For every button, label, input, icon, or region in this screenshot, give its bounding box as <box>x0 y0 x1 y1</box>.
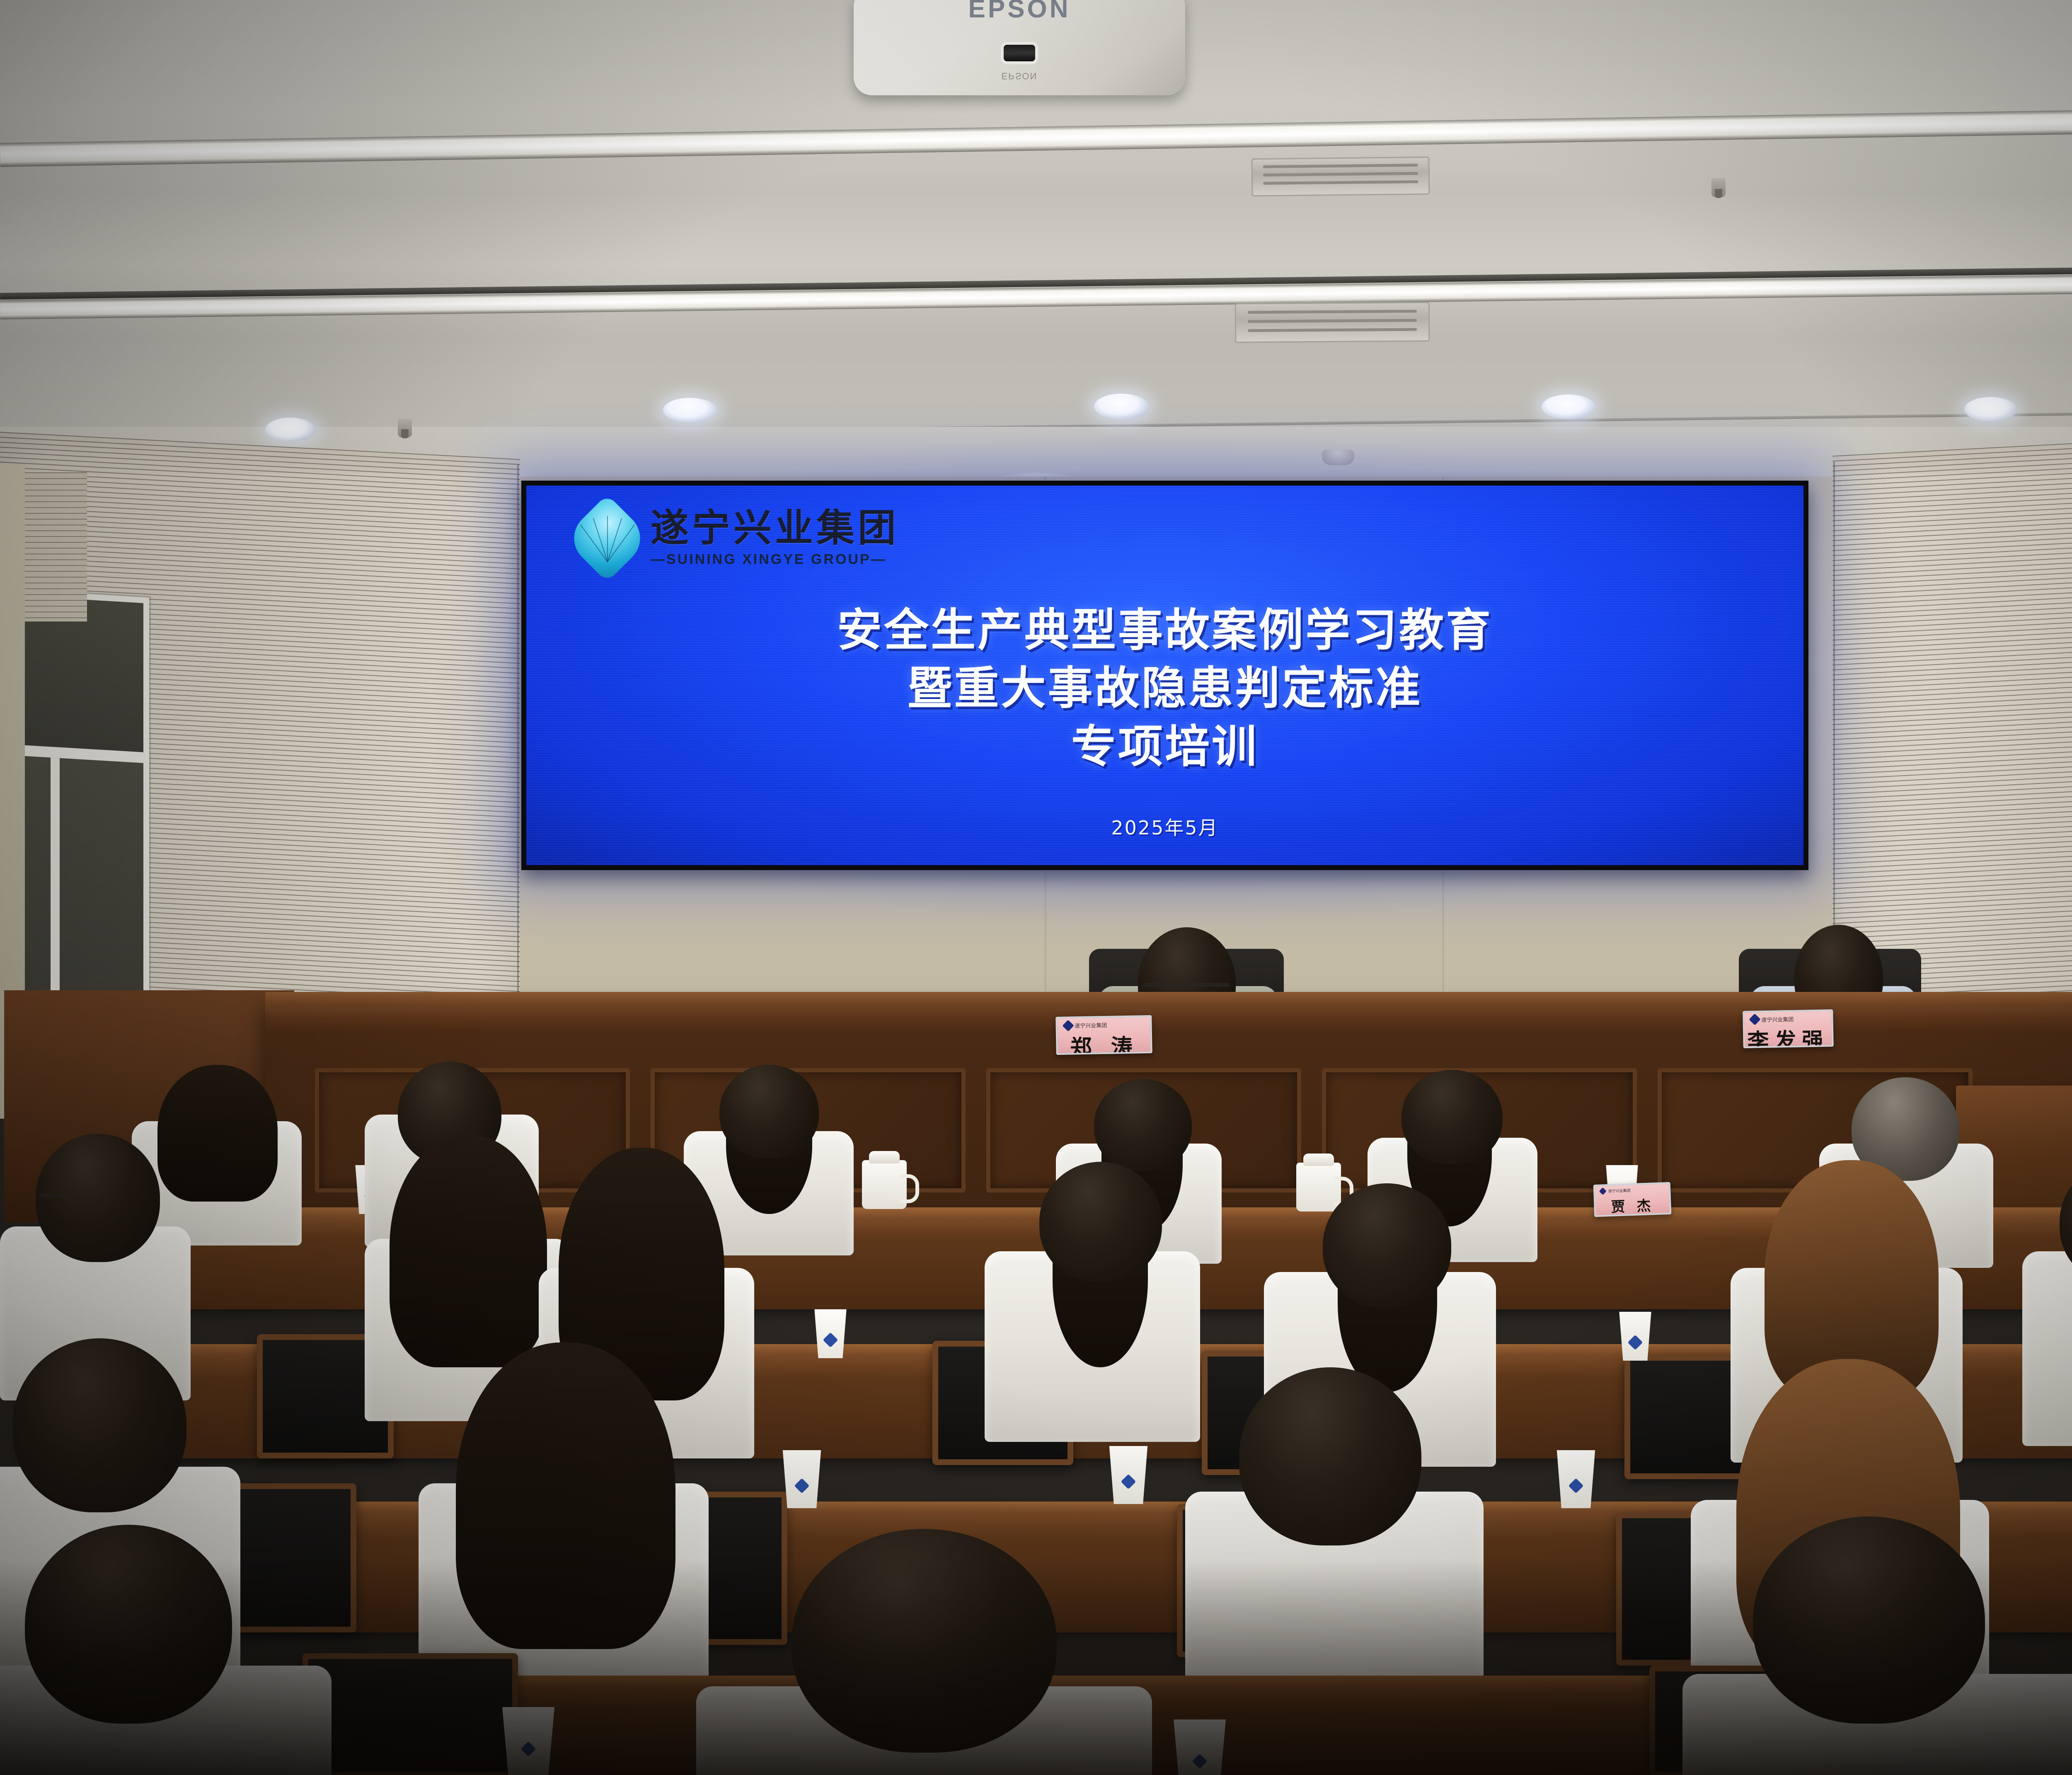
lidded-mug <box>862 1160 907 1209</box>
nameplate-name-1: 郑 涛 <box>1058 1029 1151 1055</box>
slide-title-line-3: 专项培训 <box>526 718 1803 776</box>
downlight-icon <box>1964 397 2017 422</box>
presidium-table-edge <box>265 992 2072 1007</box>
nameplate-org-1: 遂宁兴业集团 <box>1075 1021 1107 1029</box>
slide-canvas: 遂宁兴业集团 —SUINING XINGYE GROUP— 安全生产典型事故案例… <box>526 486 1803 865</box>
downlight-icon <box>1542 394 1595 419</box>
slide-date: 2025年5月 <box>526 813 1803 840</box>
conference-room-photo: EPSON EPSON <box>0 0 2072 1775</box>
air-vent-icon <box>1251 157 1430 196</box>
nameplate-presidium-1: 遂宁兴业集团 郑 涛 <box>1055 1015 1152 1055</box>
nameplate-audience-name-1: 贾 杰 <box>1595 1194 1670 1216</box>
slide-title-line-1: 安全生产典型事故案例学习教育 <box>526 602 1803 660</box>
suining-xingye-logo-icon <box>576 507 638 569</box>
slide-title: 安全生产典型事故案例学习教育 暨重大事故隐患判定标准 专项培训 <box>526 602 1803 776</box>
nameplate-audience-org-1: 遂宁兴业集团 <box>1608 1187 1630 1194</box>
downlight-icon <box>1094 394 1149 419</box>
slide-title-line-2: 暨重大事故隐患判定标准 <box>526 660 1803 718</box>
logo-english-name: —SUINING XINGYE GROUP— <box>651 551 899 568</box>
nameplate-logo-icon <box>1599 1187 1607 1195</box>
projector-lens-icon <box>1004 45 1035 61</box>
led-display-wall: 遂宁兴业集团 —SUINING XINGYE GROUP— 安全生产典型事故案例… <box>521 481 1808 870</box>
projector-brand-label: EPSON <box>854 0 1185 24</box>
ceiling-light-strip-1 <box>0 106 2072 167</box>
epson-projector: EPSON EPSON <box>854 0 1185 95</box>
glasses-icon <box>40 1193 73 1197</box>
sprinkler-icon <box>398 418 412 438</box>
nameplate-name-2: 李发强 <box>1745 1023 1832 1048</box>
foreground-shadow <box>0 1560 2072 1775</box>
projector-sub-brand-label: EPSON <box>996 70 1043 81</box>
downlight-icon <box>265 418 316 442</box>
paper-cup <box>1106 1446 1151 1504</box>
company-logo: 遂宁兴业集团 —SUINING XINGYE GROUP— <box>576 507 899 569</box>
downlight-icon <box>663 398 717 423</box>
nameplate-presidium-2: 遂宁兴业集团 李发强 <box>1743 1009 1834 1048</box>
lidded-mug <box>1296 1163 1341 1212</box>
sprinkler-icon <box>1711 178 1726 197</box>
nameplate-audience-1: 遂宁兴业集团 贾 杰 <box>1593 1182 1672 1217</box>
logo-chinese-name: 遂宁兴业集团 <box>651 509 899 547</box>
nameplate-org-2: 遂宁兴业集团 <box>1761 1015 1794 1023</box>
air-vent-icon <box>1235 302 1430 343</box>
smoke-detector-icon <box>1322 450 1354 465</box>
glasses-icon <box>1144 983 1230 987</box>
paper-cup <box>1553 1450 1599 1508</box>
